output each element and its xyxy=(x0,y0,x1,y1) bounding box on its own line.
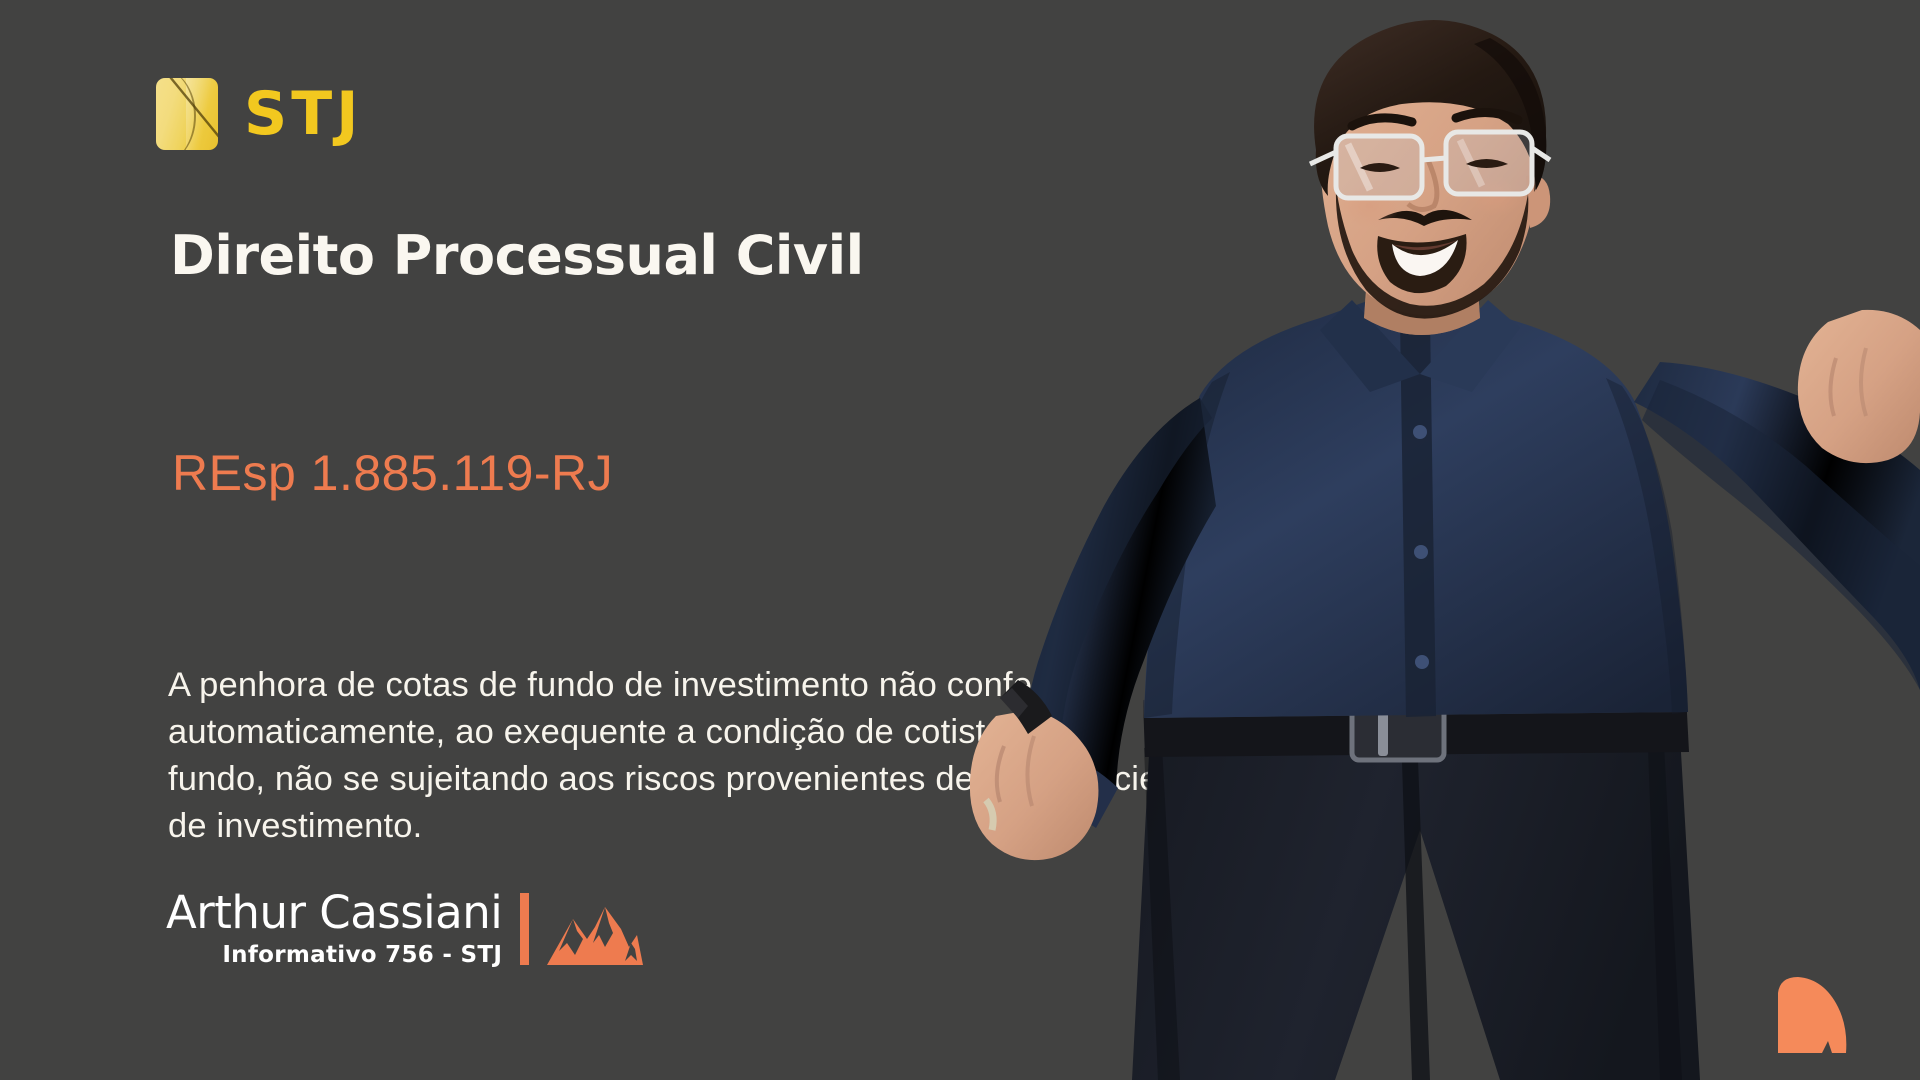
presenter-right-hand xyxy=(1798,310,1920,463)
brand-subtitle: Informativo 756 - STJ xyxy=(222,944,502,967)
stj-wordmark: STJ xyxy=(244,84,362,144)
slide-canvas: STJ Direito Processual Civil REsp 1.885.… xyxy=(0,0,1920,1080)
presenter-photo xyxy=(900,0,1920,1080)
brand-footer: Arthur Cassiani Informativo 756 - STJ xyxy=(166,890,643,967)
page-title: Direito Processual Civil xyxy=(170,228,864,285)
brand-divider xyxy=(520,893,529,965)
orange-mountain-corner-icon xyxy=(1770,975,1848,1053)
stj-mark-icon xyxy=(156,78,218,150)
mountain-icon xyxy=(547,899,643,965)
brand-text-block: Arthur Cassiani Informativo 756 - STJ xyxy=(166,890,502,967)
stj-logo: STJ xyxy=(156,78,362,150)
stj-mark-diagonal xyxy=(156,78,218,150)
brand-name: Arthur Cassiani xyxy=(166,890,502,935)
case-number: REsp 1.885.119-RJ xyxy=(172,447,613,500)
